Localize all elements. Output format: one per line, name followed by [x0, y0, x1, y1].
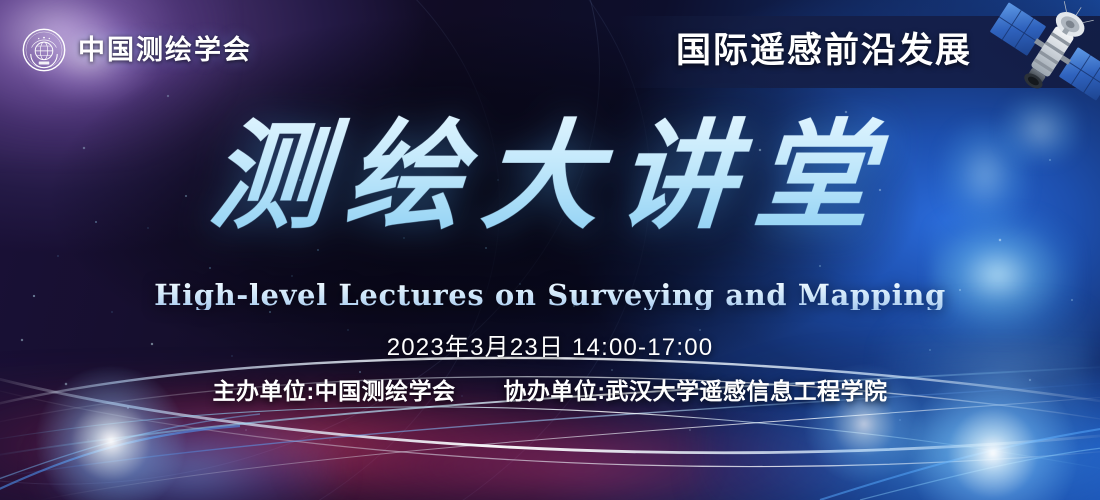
satellite-icon: [985, 0, 1100, 119]
globe-emblem-icon: [22, 28, 66, 72]
event-datetime: 2023年3月23日 14:00-17:00: [0, 336, 1100, 360]
main-title-calligraphy: 测绘大讲堂: [0, 104, 1100, 248]
cohost-organization: 协办单位:武汉大学遥感信息工程学院: [503, 378, 887, 404]
organizer-line: 主办单位:中国测绘学会 协办单位:武汉大学遥感信息工程学院: [0, 380, 1100, 403]
english-subtitle: High-level Lectures on Surveying and Map…: [0, 281, 1100, 310]
host-organization: 主办单位:中国测绘学会: [212, 378, 455, 404]
organization-name: 中国测绘学会: [78, 37, 252, 64]
logo-group: 中国测绘学会: [22, 28, 252, 72]
promotional-banner: 国际遥感前沿发展: [0, 0, 1100, 500]
tagline-text: 国际遥感前沿发展: [676, 33, 972, 68]
